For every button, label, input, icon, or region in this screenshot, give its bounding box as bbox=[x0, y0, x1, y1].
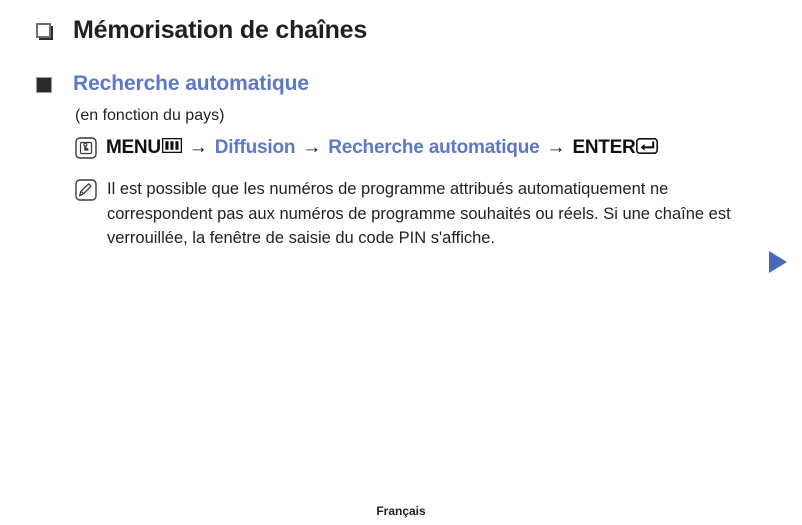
note-pencil-icon bbox=[75, 179, 97, 201]
note-block: Il est possible que les numéros de progr… bbox=[75, 177, 775, 251]
note-text: Il est possible que les numéros de progr… bbox=[107, 177, 767, 251]
next-page-triangle-icon[interactable] bbox=[769, 251, 787, 273]
path-step-diffusion[interactable]: Diffusion bbox=[215, 137, 296, 159]
hollow-square-bullet-icon bbox=[36, 23, 53, 40]
menu-bars-icon bbox=[162, 138, 182, 158]
manual-page: Mémorisation de chaînes Recherche automa… bbox=[0, 0, 802, 525]
section-title-text: Mémorisation de chaînes bbox=[73, 18, 367, 43]
sub-heading-note: (en fonction du pays) bbox=[75, 106, 224, 125]
filled-square-bullet-icon bbox=[36, 77, 52, 93]
path-arrow-1: → bbox=[189, 137, 208, 159]
path-step-recherche-automatique[interactable]: Recherche automatique bbox=[328, 137, 539, 159]
menu-button-label: MENU bbox=[106, 137, 161, 159]
footer-language-label: Français bbox=[0, 504, 802, 518]
enter-button-label: ENTER bbox=[572, 137, 635, 159]
section-title: Mémorisation de chaînes bbox=[36, 18, 367, 43]
enter-return-icon bbox=[636, 138, 658, 159]
sub-heading: Recherche automatique bbox=[36, 73, 309, 94]
menu-path-row: MENU → Diffusion → Recherche automatique… bbox=[75, 137, 658, 159]
hand-press-button-icon bbox=[75, 137, 97, 159]
path-arrow-3: → bbox=[546, 137, 565, 159]
path-arrow-2: → bbox=[302, 137, 321, 159]
sub-heading-text: Recherche automatique bbox=[73, 73, 309, 94]
